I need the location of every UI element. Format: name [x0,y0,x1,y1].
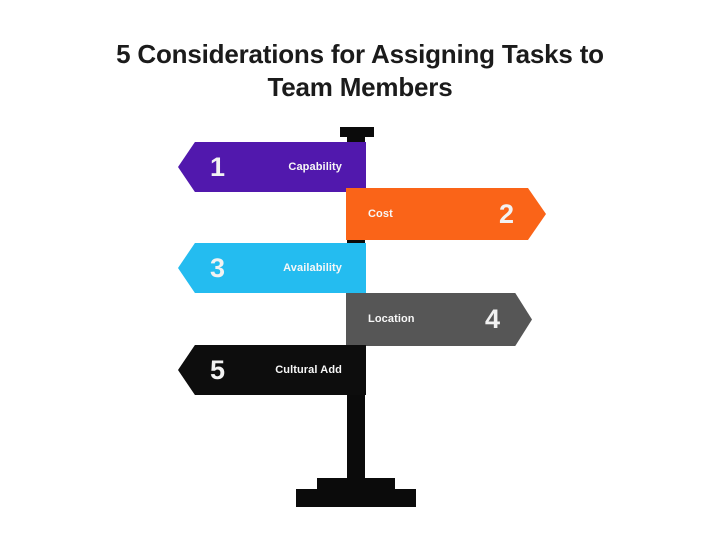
sign-number-3: 3 [210,255,225,282]
sign-label-cultural-add: Cultural Add [275,365,342,376]
sign-cost[interactable]: Cost 2 [346,188,546,240]
sign-cultural-add[interactable]: 5 Cultural Add [178,345,366,395]
sign-number-4: 4 [485,306,500,333]
sign-label-location: Location [368,314,415,325]
sign-label-availability: Availability [283,263,342,274]
sign-number-5: 5 [210,357,225,384]
sign-number-2: 2 [499,201,514,228]
signpost-base-lower [296,489,416,507]
infographic-canvas: 5 Considerations for Assigning Tasks to … [0,0,720,539]
sign-capability[interactable]: 1 Capability [178,142,366,192]
sign-label-capability: Capability [288,162,342,173]
signpost-graphic: 1 Capability Cost 2 3 Availability Locat… [0,0,720,539]
sign-label-cost: Cost [368,209,393,220]
sign-availability[interactable]: 3 Availability [178,243,366,293]
sign-number-1: 1 [210,154,225,181]
sign-location[interactable]: Location 4 [346,293,532,346]
